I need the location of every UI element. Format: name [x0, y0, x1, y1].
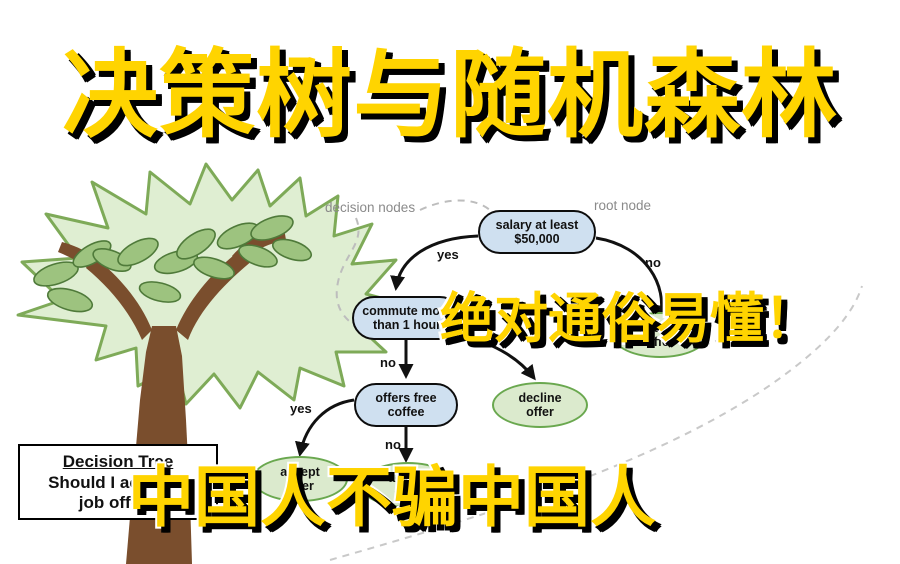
annotation-decision-nodes: decision nodes: [325, 200, 415, 215]
node-commute-line1: commute more: [362, 304, 452, 318]
overlay-bottom-slogan: 中国人不骗中国人: [128, 444, 656, 540]
node-coffee-line1: offers free: [375, 391, 436, 405]
page-title: 决策树与随机森林: [0, 46, 900, 147]
node-root[interactable]: salary at least $50,000: [478, 210, 596, 254]
node-commute-line2: than 1 hour: [373, 318, 441, 332]
node-coffee[interactable]: offers free coffee: [354, 383, 458, 427]
thumbnail-canvas: salary at least $50,000 commute more tha…: [0, 0, 900, 564]
node-decline-line1: decline: [518, 391, 561, 405]
node-root-line2: $50,000: [514, 232, 559, 246]
node-decline-offer[interactable]: decline offer: [492, 382, 588, 428]
overlay-middle-slogan: 绝对通俗易懂！: [440, 274, 818, 353]
node-root-line1: salary at least: [496, 218, 579, 232]
edge-label-commute-no: no: [380, 355, 396, 370]
annotation-root-node: root node: [594, 198, 651, 213]
node-coffee-line2: coffee: [388, 405, 425, 419]
edge-label-coffee-yes: yes: [290, 401, 312, 416]
node-decline-line2: offer: [526, 405, 554, 419]
edge-label-root-yes: yes: [437, 247, 459, 262]
edge-label-root-no: no: [645, 255, 661, 270]
